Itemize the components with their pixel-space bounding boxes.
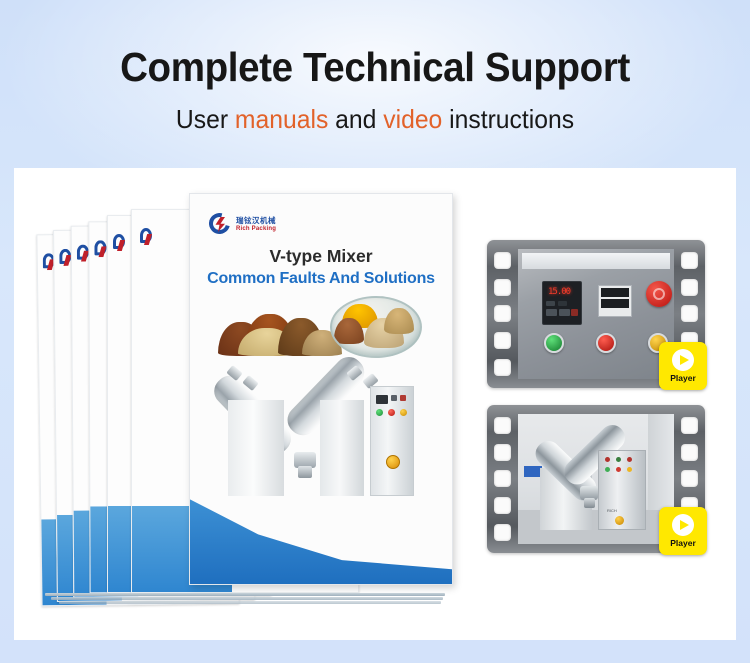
mixer-illustration bbox=[220, 366, 420, 496]
subtitle-part-manuals: manuals bbox=[235, 104, 328, 134]
video-screen[interactable]: 15.00 bbox=[518, 249, 674, 379]
vfd-value: 15.00 bbox=[548, 287, 570, 297]
film-perforations-left bbox=[490, 412, 515, 546]
rich-packing-logo-icon bbox=[140, 228, 153, 245]
page-edge bbox=[51, 597, 443, 600]
page-root: Complete Technical Support User manuals … bbox=[0, 0, 750, 663]
stop-button[interactable] bbox=[596, 333, 616, 353]
mixer-pedestal-left bbox=[228, 400, 284, 496]
page-title: Complete Technical Support bbox=[23, 44, 728, 91]
rich-packing-logo-icon bbox=[94, 240, 107, 257]
glass-dish bbox=[330, 296, 422, 358]
booklet-title: V-type Mixer bbox=[190, 246, 452, 267]
subtitle-part-and: and bbox=[328, 104, 383, 134]
machine-brand-logo: RICH bbox=[607, 508, 617, 513]
machine-control-cabinet: RICH bbox=[598, 450, 646, 530]
player-label: Player bbox=[670, 373, 696, 383]
machine-photo: RICH bbox=[518, 414, 674, 544]
logo-en-text: Rich Packing bbox=[236, 226, 276, 232]
cover-wave-graphic bbox=[190, 492, 452, 584]
rich-packing-logo-icon bbox=[208, 212, 232, 236]
powder-photo bbox=[216, 294, 426, 360]
play-button-badge[interactable]: Player bbox=[659, 507, 707, 555]
timer-display bbox=[598, 285, 632, 317]
play-icon bbox=[672, 514, 694, 536]
play-icon bbox=[672, 349, 694, 371]
rich-packing-logo: 瑞铉汉机械 Rich Packing bbox=[208, 212, 276, 236]
player-label: Player bbox=[670, 538, 696, 548]
film-perforations-left bbox=[490, 247, 515, 381]
video-screen[interactable]: RICH bbox=[518, 414, 674, 544]
header-banner: Complete Technical Support User manuals … bbox=[0, 0, 750, 168]
page-edge bbox=[45, 593, 445, 596]
subtitle-part-user: User bbox=[176, 104, 235, 134]
vfd-display: 15.00 bbox=[542, 281, 582, 325]
emergency-stop-button[interactable] bbox=[646, 281, 672, 307]
video-thumbnail-machine[interactable]: RICH Player bbox=[487, 405, 705, 553]
page-subtitle: User manuals and video instructions bbox=[19, 104, 732, 135]
booklet-subtitle: Common Faults And Solutions bbox=[190, 270, 452, 288]
play-button-badge[interactable]: Player bbox=[659, 342, 707, 390]
manual-front-cover[interactable]: 瑞铉汉机械 Rich Packing V-type Mixer Common F… bbox=[189, 193, 453, 585]
subtitle-part-video: video bbox=[383, 104, 442, 134]
control-panel-photo: 15.00 bbox=[518, 249, 674, 379]
video-thumbnail-control-panel[interactable]: 15.00 Player bbox=[487, 240, 705, 388]
subtitle-part-instructions: instructions bbox=[442, 104, 574, 134]
logo-cn-text: 瑞铉汉机械 bbox=[236, 217, 276, 225]
content-panel: A T D I Se Ca D M bbox=[14, 168, 736, 640]
start-button[interactable] bbox=[544, 333, 564, 353]
manual-stack: A T D I Se Ca D M bbox=[39, 193, 459, 613]
mixer-pedestal-right bbox=[320, 400, 364, 496]
page-edge bbox=[59, 601, 441, 604]
mixer-control-cabinet bbox=[370, 386, 414, 496]
rich-packing-logo-icon bbox=[113, 234, 126, 251]
